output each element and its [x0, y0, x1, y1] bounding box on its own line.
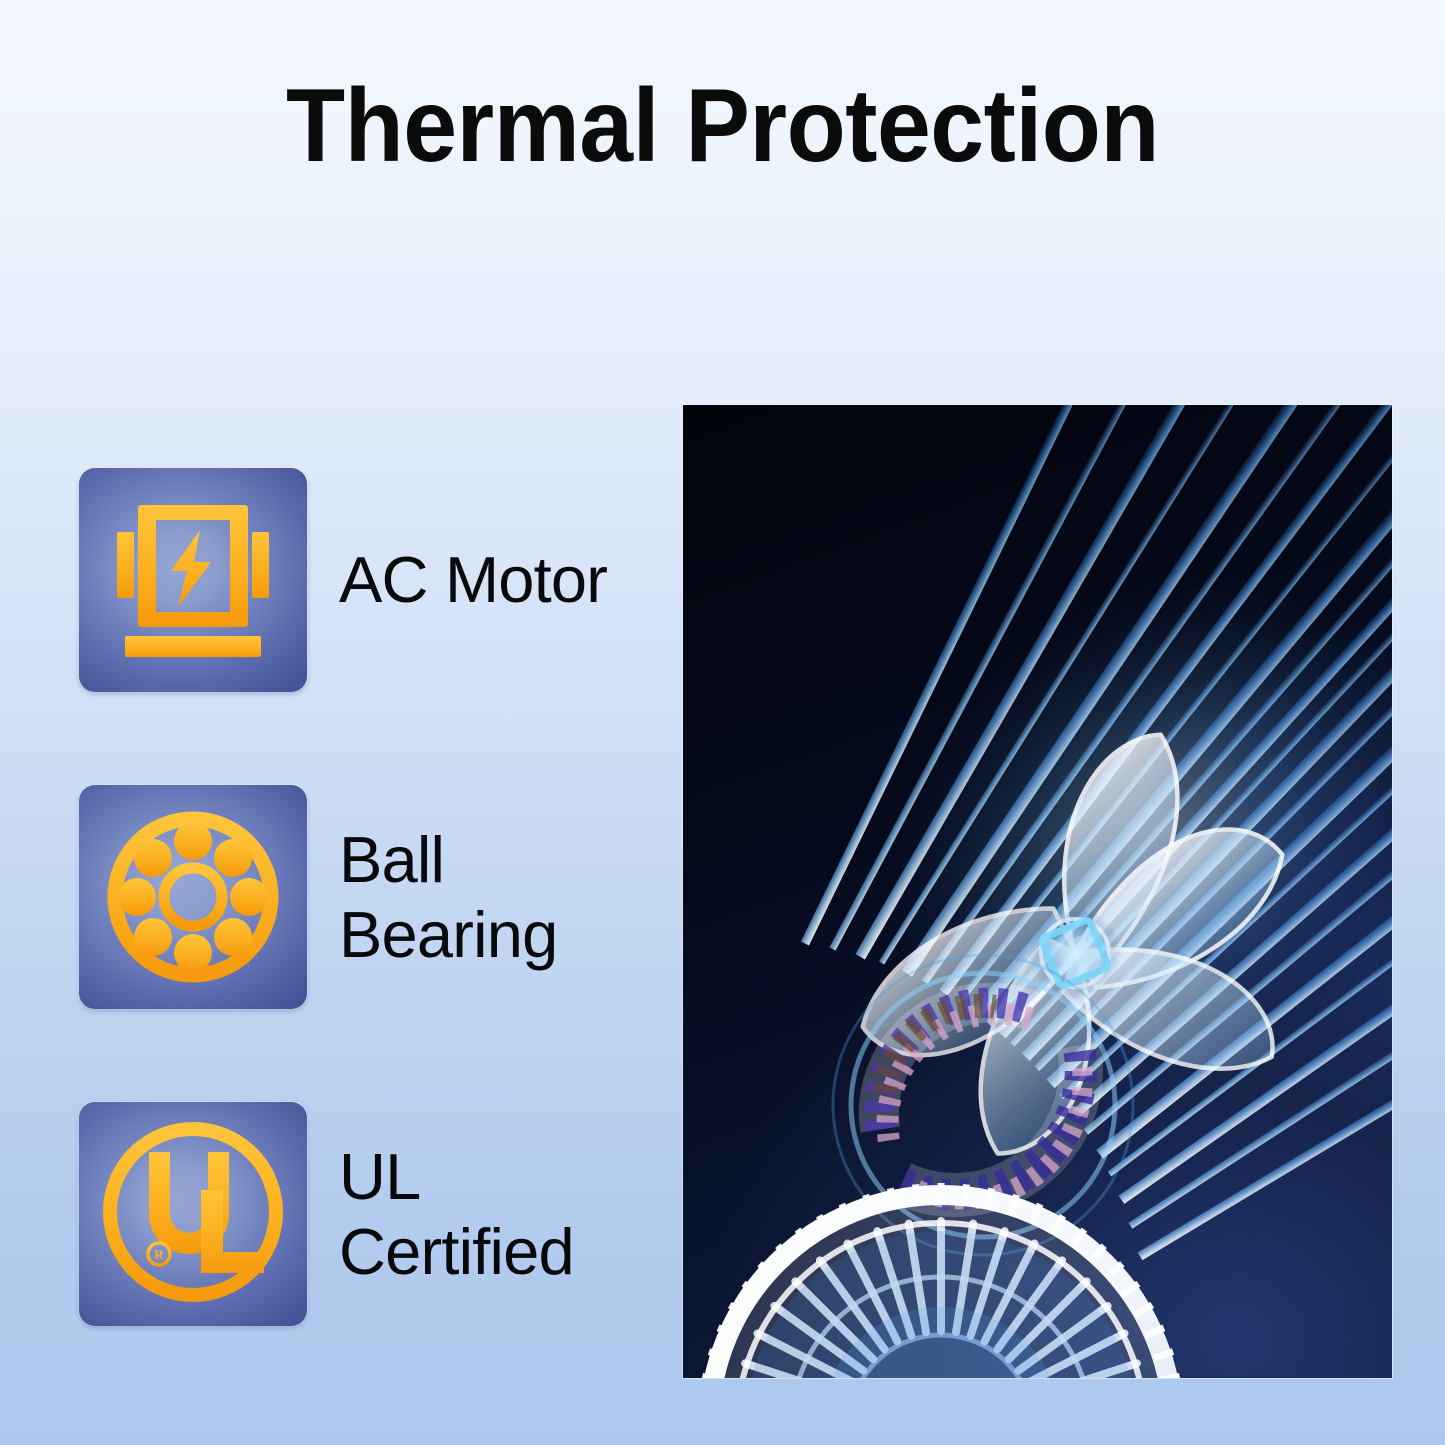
fan-grille	[698, 1183, 1183, 1378]
ball-bearing-icon	[79, 785, 307, 1009]
registered-trademark-icon: R	[148, 1243, 170, 1265]
feature-label: Ball Bearing	[339, 822, 557, 973]
feature-item-ul-certified: R UL Certified	[79, 1102, 659, 1326]
feature-item-ball-bearing: Ball Bearing	[79, 785, 659, 1009]
feature-icon-tile	[79, 468, 307, 692]
feature-label: UL Certified	[339, 1139, 574, 1290]
feature-icon-tile: R	[79, 1102, 307, 1326]
fan-motor-illustration	[683, 405, 1392, 1378]
page-title: Thermal Protection	[51, 72, 1395, 181]
feature-item-ac-motor: AC Motor	[79, 468, 659, 692]
feature-list: AC Motor	[79, 468, 659, 1326]
svg-text:R: R	[154, 1247, 164, 1262]
product-image-panel: Exploded view of fan motor assembly with…	[683, 405, 1392, 1378]
feature-icon-tile	[79, 785, 307, 1009]
infographic-page: Thermal Protection	[0, 0, 1445, 1445]
ul-certified-icon: R	[79, 1102, 307, 1326]
ac-motor-icon	[79, 468, 307, 692]
feature-label: AC Motor	[339, 542, 607, 617]
